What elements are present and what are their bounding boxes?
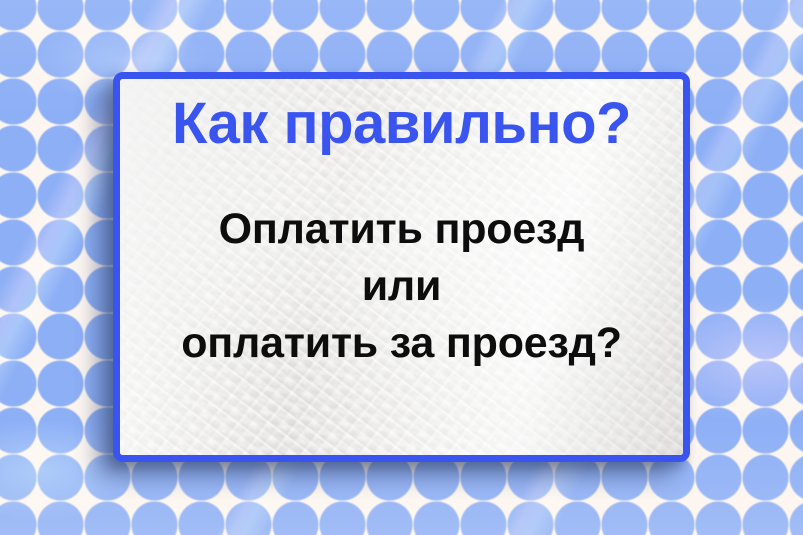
poster-question-block: Оплатить проезд или оплатить за проезд? [120, 201, 683, 371]
content-card: Как правильно? Оплатить проезд или оплат… [113, 72, 690, 462]
poster-title: Как правильно? [120, 95, 683, 153]
question-line-1: Оплатить проезд [120, 201, 683, 258]
question-conjunction: или [120, 258, 683, 315]
question-line-2: оплатить за проезд? [120, 315, 683, 372]
poster-canvas: Как правильно? Оплатить проезд или оплат… [0, 0, 803, 535]
card-content: Как правильно? Оплатить проезд или оплат… [120, 79, 683, 455]
